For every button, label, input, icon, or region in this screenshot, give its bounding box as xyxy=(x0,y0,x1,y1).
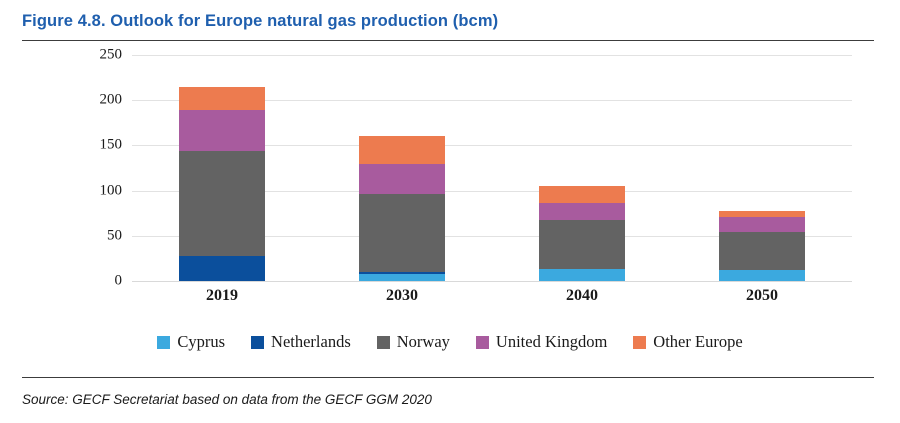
bar-segment-united-kingdom[interactable] xyxy=(359,164,445,194)
legend-label: Cyprus xyxy=(177,332,225,352)
y-axis-tick-label: 200 xyxy=(100,92,123,109)
bar-group xyxy=(132,55,852,281)
bar-segment-cyprus[interactable] xyxy=(719,270,805,281)
bar-segment-united-kingdom[interactable] xyxy=(179,110,265,151)
y-axis-tick-label: 100 xyxy=(100,182,123,199)
legend-item-netherlands[interactable]: Netherlands xyxy=(251,332,351,352)
bar-segment-norway[interactable] xyxy=(179,151,265,256)
bar-segment-united-kingdom[interactable] xyxy=(719,217,805,232)
legend-label: United Kingdom xyxy=(496,332,607,352)
legend-swatch-icon xyxy=(157,336,170,349)
y-axis: 050100150200250 xyxy=(60,55,122,287)
bar-slot-2019 xyxy=(132,55,312,281)
y-axis-tick-label: 0 xyxy=(115,273,123,290)
x-axis-labels: 2019203020402050 xyxy=(132,287,852,305)
legend-item-norway[interactable]: Norway xyxy=(377,332,450,352)
bar-slot-2030 xyxy=(312,55,492,281)
x-axis-label: 2040 xyxy=(492,287,672,305)
legend-swatch-icon xyxy=(633,336,646,349)
bar-segment-other-europe[interactable] xyxy=(359,136,445,164)
bar-segment-other-europe[interactable] xyxy=(539,186,625,203)
bar-slot-2040 xyxy=(492,55,672,281)
bar-segment-netherlands[interactable] xyxy=(179,256,265,281)
y-axis-tick-label: 50 xyxy=(107,227,122,244)
stacked-bar[interactable] xyxy=(179,87,265,281)
x-axis-label: 2019 xyxy=(132,287,312,305)
title-block: Figure 4.8. Outlook for Europe natural g… xyxy=(22,12,874,41)
stacked-bar[interactable] xyxy=(359,136,445,281)
page-title: Figure 4.8. Outlook for Europe natural g… xyxy=(22,12,874,31)
stacked-bar[interactable] xyxy=(719,211,805,281)
x-axis-label: 2050 xyxy=(672,287,852,305)
bar-segment-norway[interactable] xyxy=(359,194,445,272)
bar-segment-cyprus[interactable] xyxy=(359,274,445,281)
bar-segment-united-kingdom[interactable] xyxy=(539,203,625,219)
bar-segment-norway[interactable] xyxy=(719,232,805,270)
legend-item-other-europe[interactable]: Other Europe xyxy=(633,332,742,352)
bar-segment-cyprus[interactable] xyxy=(539,269,625,281)
source-divider xyxy=(22,377,874,378)
legend-item-united-kingdom[interactable]: United Kingdom xyxy=(476,332,607,352)
source-note: Source: GECF Secretariat based on data f… xyxy=(22,392,432,407)
bar-segment-norway[interactable] xyxy=(539,220,625,270)
y-axis-tick-label: 150 xyxy=(100,137,123,154)
chart-legend: CyprusNetherlandsNorwayUnited KingdomOth… xyxy=(0,332,900,352)
legend-label: Netherlands xyxy=(271,332,351,352)
title-divider xyxy=(22,40,874,41)
x-axis-line xyxy=(132,281,852,282)
figure-container: Figure 4.8. Outlook for Europe natural g… xyxy=(0,0,900,423)
bar-segment-other-europe[interactable] xyxy=(179,87,265,111)
legend-swatch-icon xyxy=(377,336,390,349)
legend-label: Norway xyxy=(397,332,450,352)
x-axis-label: 2030 xyxy=(312,287,492,305)
legend-swatch-icon xyxy=(476,336,489,349)
bar-slot-2050 xyxy=(672,55,852,281)
stacked-bar[interactable] xyxy=(539,186,625,281)
legend-label: Other Europe xyxy=(653,332,742,352)
chart-plot-area: 050100150200250 2019203020402050 xyxy=(0,55,900,305)
legend-swatch-icon xyxy=(251,336,264,349)
legend-item-cyprus[interactable]: Cyprus xyxy=(157,332,225,352)
y-axis-tick-label: 250 xyxy=(100,47,123,64)
